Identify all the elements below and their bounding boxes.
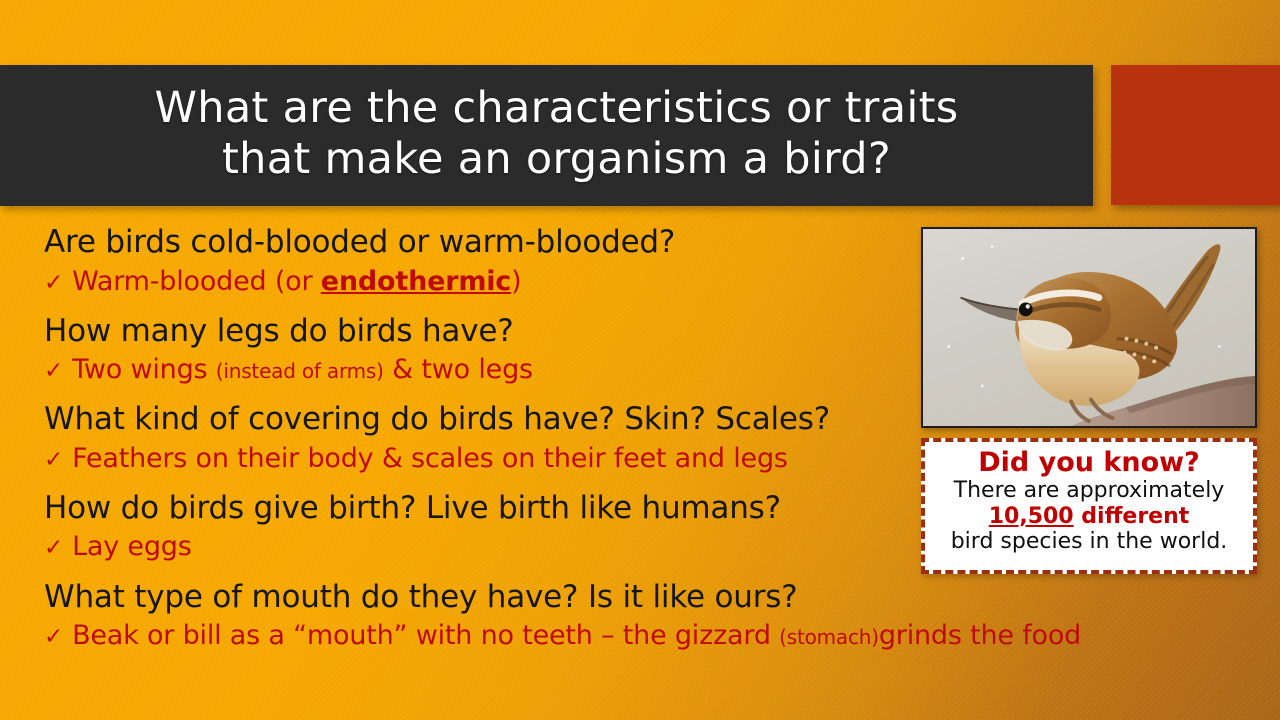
answer-part: Two wings (72, 354, 216, 385)
fact-number-underline: 10,500 (989, 504, 1074, 529)
bird-photo (921, 227, 1257, 428)
bird-illustration (923, 229, 1255, 426)
qa-group: How many legs do birds have? ✓ Two wings… (44, 311, 914, 388)
question-text: How do birds give birth? Live birth like… (44, 488, 914, 530)
qa-group: What kind of covering do birds have? Ski… (44, 399, 914, 476)
qa-group: Are birds cold-blooded or warm-blooded? … (44, 222, 914, 299)
answer-part: & two legs (384, 354, 533, 385)
answer-part-note: (instead of arms) (216, 359, 384, 383)
answer-part-emphasis: endothermic (321, 266, 511, 297)
check-icon: ✓ (44, 360, 63, 383)
answer-part: Beak or bill as a “mouth” with no teeth … (72, 620, 779, 651)
fact-number: 10,500 (989, 504, 1074, 529)
fact-number-word: different (1074, 504, 1190, 529)
check-icon: ✓ (44, 272, 63, 295)
answer-row: ✓ Feathers on their body & scales on the… (44, 441, 914, 476)
check-icon: ✓ (44, 626, 63, 649)
fact-line-3: bird species in the world. (933, 529, 1245, 555)
accent-red-block (1111, 65, 1280, 205)
fact-line-2: 10,500 different (933, 504, 1245, 530)
check-icon: ✓ (44, 449, 63, 472)
fact-line-1: There are approximately (933, 478, 1245, 504)
question-text: How many legs do birds have? (44, 311, 914, 353)
answer-text: Feathers on their body & scales on their… (72, 441, 788, 476)
qa-group: How do birds give birth? Live birth like… (44, 488, 914, 565)
question-text: What type of mouth do they have? Is it l… (44, 577, 1274, 619)
answer-text: Warm-blooded (or endothermic) (72, 264, 521, 299)
answer-part-note: (stomach) (779, 625, 879, 649)
answer-text: Two wings (instead of arms) & two legs (72, 352, 533, 387)
fact-title: Did you know? (933, 447, 1245, 478)
answer-part: grinds the food (879, 620, 1081, 651)
answer-part: ) (511, 266, 521, 297)
did-you-know-box: Did you know? There are approximately 10… (921, 438, 1257, 574)
title-bar: What are the characteristics or traits t… (0, 65, 1093, 206)
check-icon: ✓ (44, 537, 63, 560)
answer-row: ✓ Warm-blooded (or endothermic) (44, 264, 914, 299)
page-title: What are the characteristics or traits t… (94, 83, 998, 188)
question-answer-list: Are birds cold-blooded or warm-blooded? … (44, 222, 914, 655)
answer-text: Lay eggs (72, 529, 192, 564)
answer-row: ✓ Lay eggs (44, 529, 914, 564)
answer-part: Warm-blooded (or (72, 266, 321, 297)
qa-group: What type of mouth do they have? Is it l… (44, 577, 1274, 654)
answer-row: ✓ Beak or bill as a “mouth” with no teet… (44, 618, 1274, 653)
answer-row: ✓ Two wings (instead of arms) & two legs (44, 352, 914, 387)
slide-canvas: What are the characteristics or traits t… (0, 0, 1280, 720)
question-text: Are birds cold-blooded or warm-blooded? (44, 222, 914, 264)
answer-text: Beak or bill as a “mouth” with no teeth … (72, 618, 1081, 653)
question-text: What kind of covering do birds have? Ski… (44, 399, 914, 441)
